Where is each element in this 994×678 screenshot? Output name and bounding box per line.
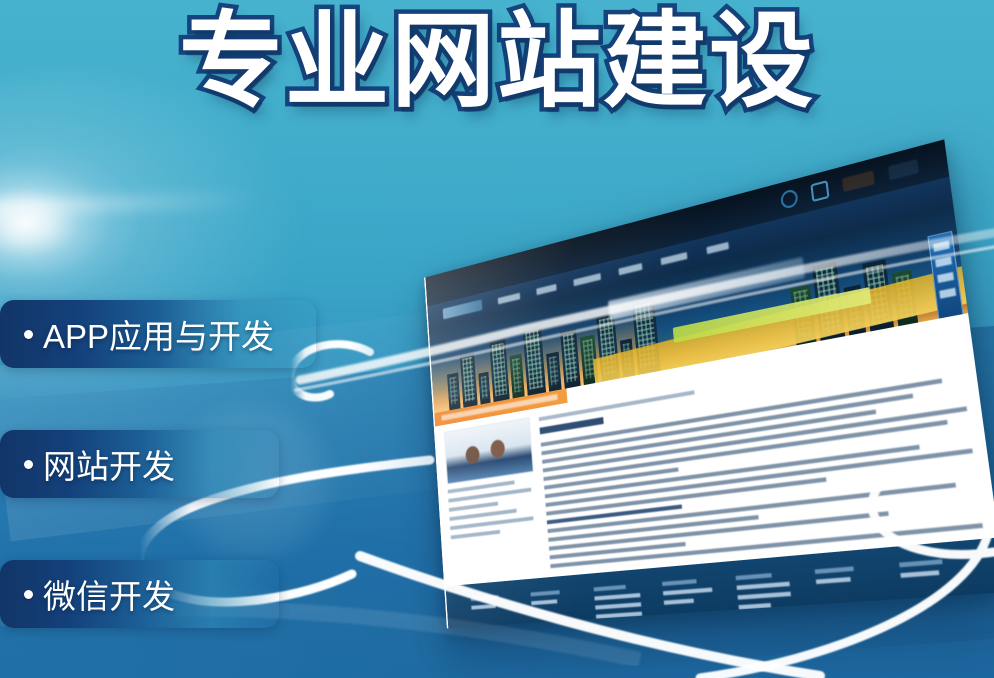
article-heading	[540, 417, 604, 434]
bullet-item-website[interactable]: 网站开发	[0, 430, 279, 498]
bullet-label: 微信开发	[43, 570, 175, 618]
bullet-item-app[interactable]: APP应用与开发	[0, 300, 316, 368]
bullet-dot-icon	[24, 460, 33, 469]
globe-icon	[810, 180, 829, 202]
nav-item	[498, 292, 521, 304]
poster-canvas: 专业网站建设	[0, 0, 994, 678]
bullet-item-wechat[interactable]: 微信开发	[0, 560, 279, 628]
nav-item	[573, 273, 601, 286]
text-line	[541, 378, 943, 446]
nav-item	[661, 252, 688, 265]
nav-item	[536, 283, 556, 294]
text-line	[543, 406, 967, 472]
bullet-label: APP应用与开发	[43, 310, 274, 358]
bullet-dot-icon	[24, 590, 33, 599]
topbar-tag-secondary	[888, 158, 919, 179]
sidebar-line	[451, 530, 501, 539]
website-mockup-stage	[368, 214, 968, 614]
footer-column	[471, 594, 517, 628]
sidebar-line	[449, 502, 499, 512]
feature-bullet-list: APP应用与开发 网站开发 微信开发	[0, 300, 380, 678]
user-icon	[780, 188, 799, 210]
mockup-sidebar	[444, 417, 542, 585]
nav-item	[618, 262, 642, 274]
topbar-tag-primary	[842, 170, 875, 192]
bullet-label: 网站开发	[43, 440, 175, 488]
page-title: 专业网站建设	[0, 6, 994, 118]
people-photo	[444, 417, 534, 484]
bullet-dot-icon	[24, 330, 33, 339]
site-logo-icon	[443, 299, 483, 319]
nav-item	[706, 241, 729, 253]
